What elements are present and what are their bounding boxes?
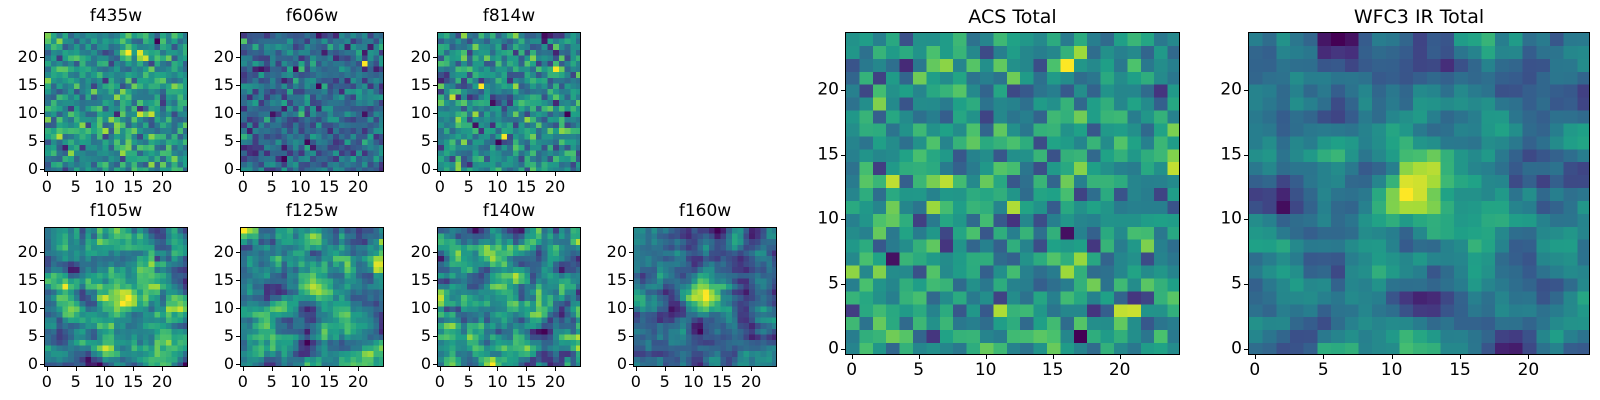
y-tick-label: 5: [4, 328, 38, 344]
y-tick-mark: [40, 169, 44, 170]
y-tick-mark: [433, 336, 437, 337]
x-tick-mark: [1392, 355, 1393, 359]
x-tick-mark: [329, 367, 330, 371]
x-tick-mark: [469, 367, 470, 371]
x-tick-label: 15: [516, 179, 536, 195]
y-tick-label: 10: [397, 300, 431, 316]
y-tick-mark: [40, 85, 44, 86]
panel-f125w: f125w0510152005101520: [200, 199, 384, 393]
y-tick-label: 20: [4, 49, 38, 65]
y-tick-label: 0: [593, 356, 627, 372]
x-tick-label: 15: [712, 374, 732, 390]
heatmap-axes: [633, 227, 777, 367]
y-tick-mark: [236, 85, 240, 86]
y-tick-label: 20: [200, 49, 234, 65]
y-tick-mark: [40, 280, 44, 281]
x-tick-mark: [47, 172, 48, 176]
y-tick-label: 0: [1208, 340, 1242, 357]
x-tick-mark: [497, 172, 498, 176]
y-tick-label: 0: [4, 356, 38, 372]
x-tick-mark: [1120, 355, 1121, 359]
x-tick-label: 15: [1449, 362, 1471, 379]
x-tick-mark: [300, 367, 301, 371]
y-tick-label: 0: [200, 161, 234, 177]
heatmap-axes: [44, 32, 188, 172]
x-tick-label: 10: [94, 179, 114, 195]
x-tick-label: 0: [435, 374, 445, 390]
y-tick-mark: [236, 252, 240, 253]
x-tick-mark: [133, 367, 134, 371]
y-tick-mark: [236, 57, 240, 58]
y-tick-mark: [841, 219, 845, 220]
x-tick-label: 20: [152, 179, 172, 195]
x-tick-mark: [497, 367, 498, 371]
y-tick-mark: [433, 57, 437, 58]
y-tick-label: 0: [397, 356, 431, 372]
x-tick-label: 15: [319, 374, 339, 390]
y-tick-label: 15: [1208, 146, 1242, 163]
x-tick-label: 10: [290, 179, 310, 195]
y-tick-label: 10: [200, 300, 234, 316]
x-tick-mark: [636, 367, 637, 371]
y-tick-mark: [433, 85, 437, 86]
y-tick-mark: [1244, 155, 1248, 156]
panel-title: f606w: [240, 8, 384, 25]
y-tick-label: 5: [805, 275, 839, 292]
y-tick-mark: [1244, 349, 1248, 350]
x-tick-mark: [751, 367, 752, 371]
y-tick-label: 5: [200, 133, 234, 149]
x-tick-label: 15: [123, 179, 143, 195]
panel-f160w: f160w0510152005101520: [593, 199, 777, 393]
y-tick-label: 20: [397, 244, 431, 260]
y-tick-label: 15: [397, 77, 431, 93]
x-tick-label: 10: [1381, 362, 1403, 379]
heatmap-axes: [1248, 32, 1590, 355]
panel-title: f125w: [240, 203, 384, 220]
x-tick-label: 0: [42, 374, 52, 390]
y-tick-label: 5: [4, 133, 38, 149]
x-tick-label: 5: [71, 374, 81, 390]
y-tick-label: 10: [4, 300, 38, 316]
panel-title: f160w: [633, 203, 777, 220]
x-tick-mark: [469, 172, 470, 176]
panel-title: f140w: [437, 203, 581, 220]
heatmap-axes: [437, 227, 581, 367]
x-tick-mark: [722, 367, 723, 371]
y-tick-label: 5: [1208, 275, 1242, 292]
x-tick-label: 10: [94, 374, 114, 390]
x-tick-label: 15: [516, 374, 536, 390]
y-tick-label: 15: [200, 272, 234, 288]
x-tick-mark: [329, 172, 330, 176]
y-tick-mark: [40, 336, 44, 337]
heatmap-axes: [240, 32, 384, 172]
x-tick-label: 5: [1318, 362, 1329, 379]
x-tick-label: 10: [683, 374, 703, 390]
y-tick-label: 15: [593, 272, 627, 288]
panel-title: f105w: [44, 203, 188, 220]
x-tick-mark: [358, 367, 359, 371]
panel-f105w: f105w0510152005101520: [4, 199, 188, 393]
panel-title: f435w: [44, 8, 188, 25]
panel-f814w: f814w0510152005101520: [397, 4, 581, 198]
y-tick-label: 10: [805, 211, 839, 228]
x-tick-label: 10: [975, 362, 997, 379]
y-tick-mark: [841, 284, 845, 285]
x-tick-label: 0: [435, 179, 445, 195]
x-tick-mark: [440, 172, 441, 176]
panel-f140w: f140w0510152005101520: [397, 199, 581, 393]
x-tick-mark: [243, 367, 244, 371]
x-tick-mark: [133, 172, 134, 176]
x-tick-label: 5: [71, 179, 81, 195]
panel-wfc3-ir-total: WFC3 IR Total0510152005101520: [1208, 4, 1590, 381]
x-tick-label: 5: [913, 362, 924, 379]
x-tick-label: 20: [348, 374, 368, 390]
y-tick-label: 5: [397, 133, 431, 149]
heatmap-pixels: [45, 228, 188, 367]
y-tick-label: 15: [4, 272, 38, 288]
y-tick-mark: [236, 113, 240, 114]
y-tick-mark: [433, 113, 437, 114]
y-tick-label: 5: [397, 328, 431, 344]
y-tick-mark: [236, 308, 240, 309]
astronomy-cutout-figure: f435w0510152005101520f606w05101520051015…: [0, 0, 1600, 400]
y-tick-label: 0: [397, 161, 431, 177]
y-tick-mark: [40, 252, 44, 253]
x-tick-mark: [919, 355, 920, 359]
y-tick-mark: [433, 169, 437, 170]
heatmap-pixels: [241, 228, 384, 367]
y-tick-mark: [629, 280, 633, 281]
y-tick-mark: [236, 141, 240, 142]
y-tick-mark: [1244, 284, 1248, 285]
y-tick-label: 0: [4, 161, 38, 177]
x-tick-mark: [555, 172, 556, 176]
x-tick-label: 10: [487, 179, 507, 195]
heatmap-pixels: [1249, 33, 1590, 355]
y-tick-mark: [841, 349, 845, 350]
x-tick-label: 20: [152, 374, 172, 390]
x-tick-label: 0: [238, 179, 248, 195]
y-tick-label: 20: [1208, 82, 1242, 99]
y-tick-mark: [433, 308, 437, 309]
x-tick-label: 10: [290, 374, 310, 390]
heatmap-pixels: [846, 33, 1180, 355]
x-tick-mark: [243, 172, 244, 176]
x-tick-mark: [665, 367, 666, 371]
panel-title: ACS Total: [845, 8, 1180, 27]
y-tick-label: 10: [1208, 211, 1242, 228]
y-tick-mark: [841, 90, 845, 91]
x-tick-mark: [852, 355, 853, 359]
x-tick-label: 20: [545, 374, 565, 390]
x-tick-label: 20: [1109, 362, 1131, 379]
x-tick-label: 15: [123, 374, 143, 390]
heatmap-axes: [44, 227, 188, 367]
y-tick-mark: [40, 364, 44, 365]
heatmap-pixels: [634, 228, 777, 367]
x-tick-mark: [162, 172, 163, 176]
x-tick-label: 15: [319, 179, 339, 195]
y-tick-label: 5: [200, 328, 234, 344]
y-tick-mark: [629, 308, 633, 309]
y-tick-label: 20: [397, 49, 431, 65]
y-tick-mark: [1244, 219, 1248, 220]
x-tick-mark: [986, 355, 987, 359]
y-tick-mark: [236, 280, 240, 281]
x-tick-label: 5: [267, 179, 277, 195]
x-tick-label: 5: [660, 374, 670, 390]
y-tick-mark: [433, 280, 437, 281]
y-tick-mark: [236, 169, 240, 170]
y-tick-label: 15: [200, 77, 234, 93]
y-tick-label: 20: [593, 244, 627, 260]
x-tick-mark: [300, 172, 301, 176]
x-tick-mark: [1460, 355, 1461, 359]
y-tick-label: 20: [200, 244, 234, 260]
x-tick-mark: [693, 367, 694, 371]
y-tick-label: 10: [200, 105, 234, 121]
y-tick-label: 15: [4, 77, 38, 93]
y-tick-mark: [629, 364, 633, 365]
x-tick-mark: [272, 367, 273, 371]
x-tick-label: 0: [1249, 362, 1260, 379]
x-tick-mark: [526, 172, 527, 176]
x-tick-mark: [555, 367, 556, 371]
heatmap-axes: [240, 227, 384, 367]
heatmap-pixels: [438, 33, 581, 172]
x-tick-label: 5: [464, 374, 474, 390]
y-tick-mark: [629, 336, 633, 337]
x-tick-mark: [76, 172, 77, 176]
panel-title: f814w: [437, 8, 581, 25]
x-tick-mark: [1255, 355, 1256, 359]
y-tick-label: 15: [397, 272, 431, 288]
x-tick-mark: [440, 367, 441, 371]
heatmap-pixels: [241, 33, 384, 172]
y-tick-label: 10: [593, 300, 627, 316]
panel-f606w: f606w0510152005101520: [200, 4, 384, 198]
x-tick-mark: [47, 367, 48, 371]
heatmap-pixels: [45, 33, 188, 172]
panel-acs-total: ACS Total0510152005101520: [805, 4, 1180, 381]
y-tick-mark: [40, 113, 44, 114]
x-tick-label: 0: [631, 374, 641, 390]
y-tick-mark: [236, 336, 240, 337]
y-tick-mark: [433, 141, 437, 142]
y-tick-mark: [40, 57, 44, 58]
x-tick-label: 20: [545, 179, 565, 195]
y-tick-mark: [629, 252, 633, 253]
panel-f435w: f435w0510152005101520: [4, 4, 188, 198]
y-tick-label: 10: [4, 105, 38, 121]
x-tick-label: 20: [1518, 362, 1540, 379]
x-tick-label: 0: [42, 179, 52, 195]
x-tick-mark: [272, 172, 273, 176]
y-tick-mark: [433, 252, 437, 253]
x-tick-mark: [104, 172, 105, 176]
x-tick-label: 5: [267, 374, 277, 390]
y-tick-mark: [433, 364, 437, 365]
x-tick-mark: [76, 367, 77, 371]
y-tick-mark: [1244, 90, 1248, 91]
y-tick-label: 20: [805, 82, 839, 99]
x-tick-mark: [1323, 355, 1324, 359]
x-tick-label: 5: [464, 179, 474, 195]
x-tick-mark: [358, 172, 359, 176]
y-tick-label: 15: [805, 146, 839, 163]
x-tick-label: 10: [487, 374, 507, 390]
heatmap-axes: [845, 32, 1180, 355]
x-tick-mark: [1528, 355, 1529, 359]
y-tick-mark: [40, 141, 44, 142]
x-tick-label: 15: [1042, 362, 1064, 379]
heatmap-axes: [437, 32, 581, 172]
x-tick-label: 20: [348, 179, 368, 195]
y-tick-label: 5: [593, 328, 627, 344]
y-tick-label: 10: [397, 105, 431, 121]
panel-title: WFC3 IR Total: [1248, 8, 1590, 27]
y-tick-mark: [40, 308, 44, 309]
y-tick-label: 20: [4, 244, 38, 260]
heatmap-pixels: [438, 228, 581, 367]
y-tick-label: 0: [805, 340, 839, 357]
x-tick-mark: [162, 367, 163, 371]
y-tick-label: 0: [200, 356, 234, 372]
x-tick-label: 20: [741, 374, 761, 390]
x-tick-mark: [1053, 355, 1054, 359]
x-tick-mark: [526, 367, 527, 371]
x-tick-mark: [104, 367, 105, 371]
x-tick-label: 0: [238, 374, 248, 390]
x-tick-label: 0: [846, 362, 857, 379]
y-tick-mark: [236, 364, 240, 365]
y-tick-mark: [841, 155, 845, 156]
